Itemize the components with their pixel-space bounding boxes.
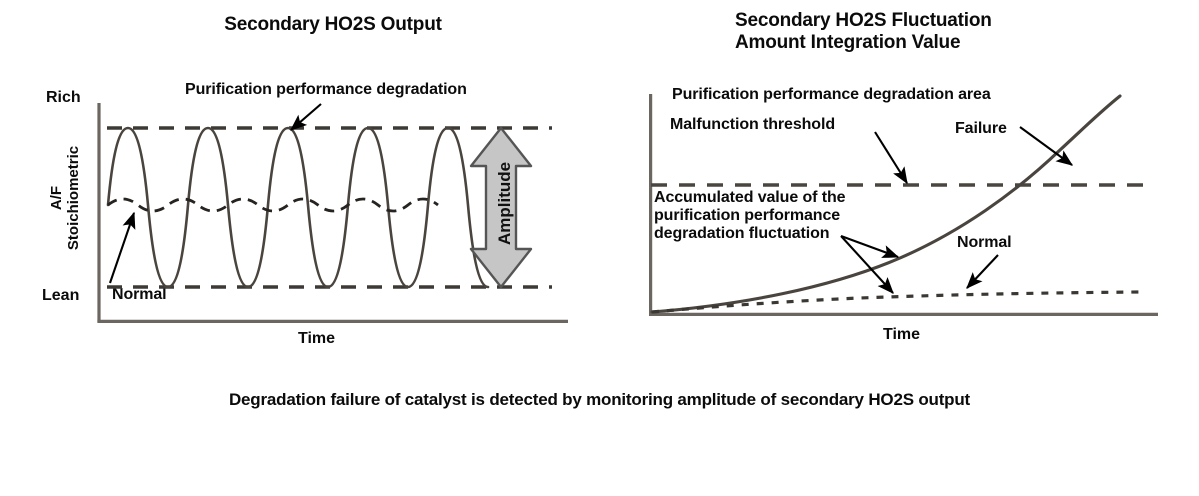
- left-chart: Secondary HO2S Output Rich Lean A/F Stoi…: [0, 0, 600, 370]
- left-degraded-waveform: [108, 128, 488, 287]
- figure-canvas: Secondary HO2S Output Rich Lean A/F Stoi…: [0, 0, 1199, 496]
- right-arrow-malfunction-threshold: [875, 132, 907, 183]
- left-arrow-degradation: [291, 104, 321, 130]
- amplitude-label: Amplitude: [495, 162, 515, 245]
- right-axis-lines: [649, 94, 1158, 315]
- normal-accumulation-curve: [652, 292, 1140, 312]
- accumulated-degradation-curve: [652, 96, 1120, 312]
- figure-caption: Degradation failure of catalyst is detec…: [0, 390, 1199, 410]
- right-chart: Secondary HO2S Fluctuation Amount Integr…: [600, 0, 1199, 370]
- right-chart-plot: [600, 0, 1199, 370]
- left-arrow-normal: [110, 213, 134, 283]
- right-arrow-normal: [967, 255, 998, 288]
